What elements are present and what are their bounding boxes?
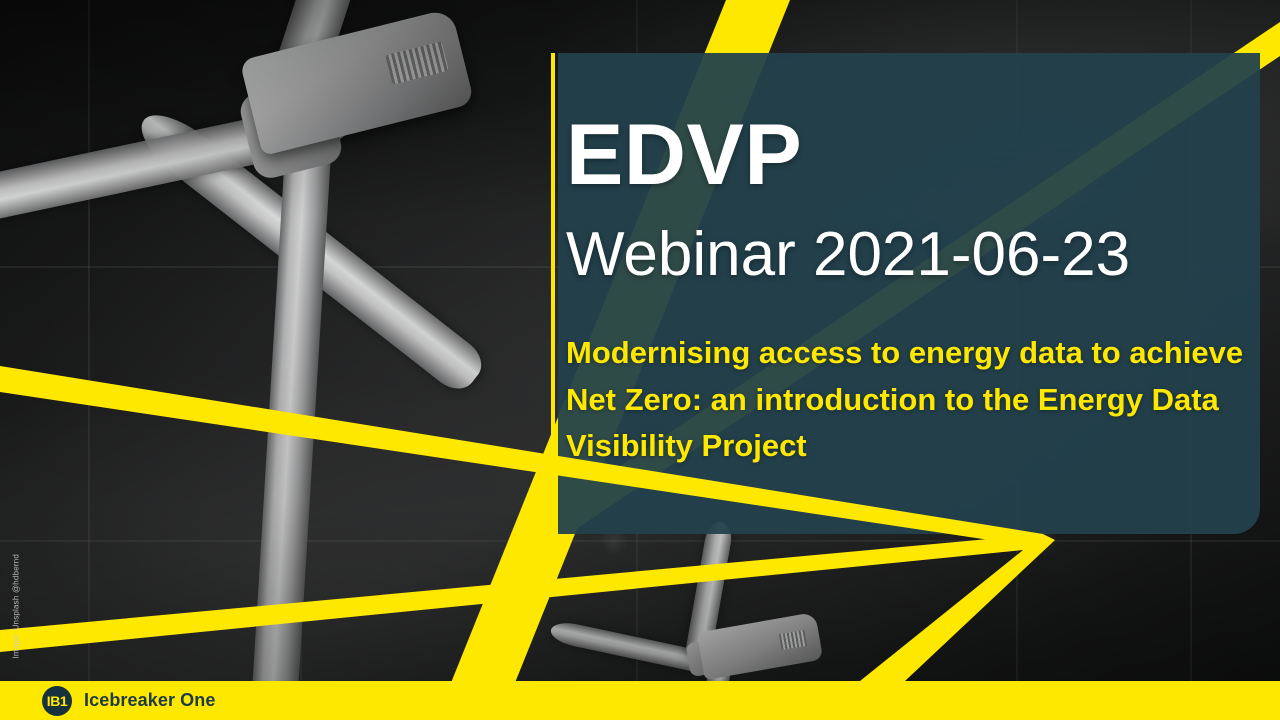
slide-description: Modernising access to energy data to ach…: [566, 330, 1246, 470]
slide-footer: IB1 Icebreaker One: [0, 681, 1280, 720]
page-title: EDVP: [566, 112, 802, 198]
photo-credit: Image: Unsplash @hdbernd: [12, 539, 21, 659]
slide-subtitle-line: Webinar 2021-06-23: [566, 222, 1130, 287]
icebreaker-one-logo-icon: IB1: [42, 686, 72, 716]
presentation-slide: EDVP Webinar 2021-06-23 Modernising acce…: [0, 0, 1280, 720]
organisation-name: Icebreaker One: [84, 690, 215, 711]
slide-text-layer: EDVP Webinar 2021-06-23 Modernising acce…: [0, 0, 1280, 720]
